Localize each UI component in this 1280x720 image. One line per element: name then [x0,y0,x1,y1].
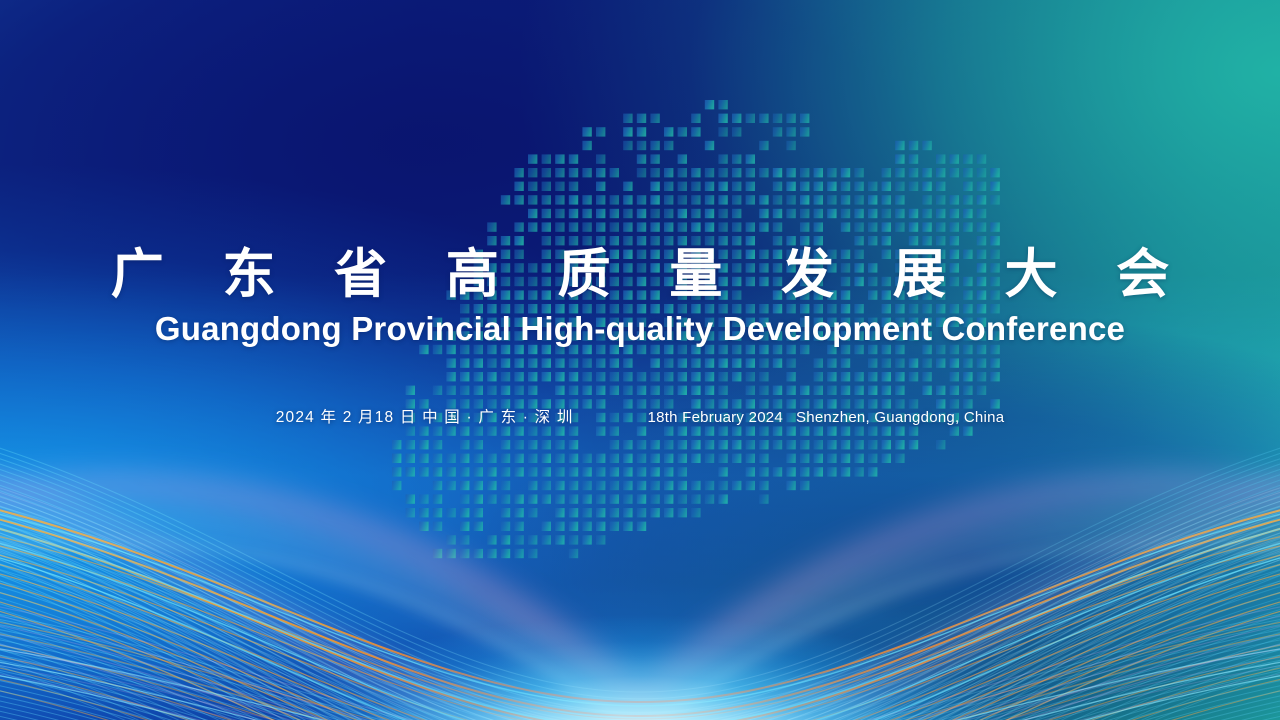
light-ribbon-waves [0,0,1280,720]
poster-canvas: 广 东 省 高 质 量 发 展 大 会 Guangdong Provincial… [0,0,1280,720]
